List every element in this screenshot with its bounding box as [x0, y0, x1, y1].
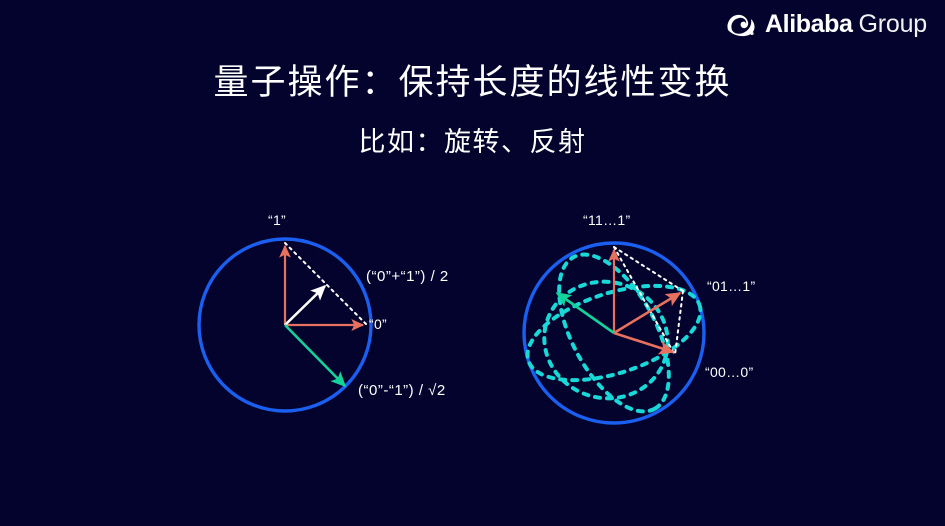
slide-root: Alibaba Group 量子操作：保持长度的线性变换 比如：旋转、反射 [0, 0, 945, 526]
label-state-01-1: “01…1” [707, 278, 755, 294]
label-state-11-1: “11…1” [583, 212, 630, 228]
label-basis-zero: “0” [369, 316, 387, 332]
alibaba-logo-icon [725, 11, 759, 37]
multiqubit-sphere-diagram: “11…1” “01…1” “00…0” [505, 200, 805, 440]
slide-subtitle: 比如：旋转、反射 [0, 120, 945, 159]
vector-superposition-plus [285, 286, 325, 325]
label-superposition-plus: (“0”+“1”) / 2 [366, 268, 449, 285]
label-basis-one: “1” [268, 212, 286, 228]
logo-group-text: Group [859, 12, 927, 37]
vector-superposition-minus [285, 325, 345, 386]
slide-title: 量子操作：保持长度的线性变换 [0, 54, 945, 105]
multiqubit-sphere-svg [505, 200, 805, 440]
great-circle-oblique [530, 267, 681, 413]
qubit-circle-svg [180, 200, 500, 430]
label-superposition-minus: (“0”-“1”) / √2 [358, 382, 446, 399]
qubit-circle-diagram: “1” “0” (“0”+“1”) / 2 (“0”-“1”) / √2 [180, 200, 500, 430]
logo-brand-text: Alibaba [765, 12, 853, 37]
alibaba-group-logo: Alibaba Group [725, 8, 927, 40]
label-state-00-0: “00…0” [705, 364, 753, 380]
